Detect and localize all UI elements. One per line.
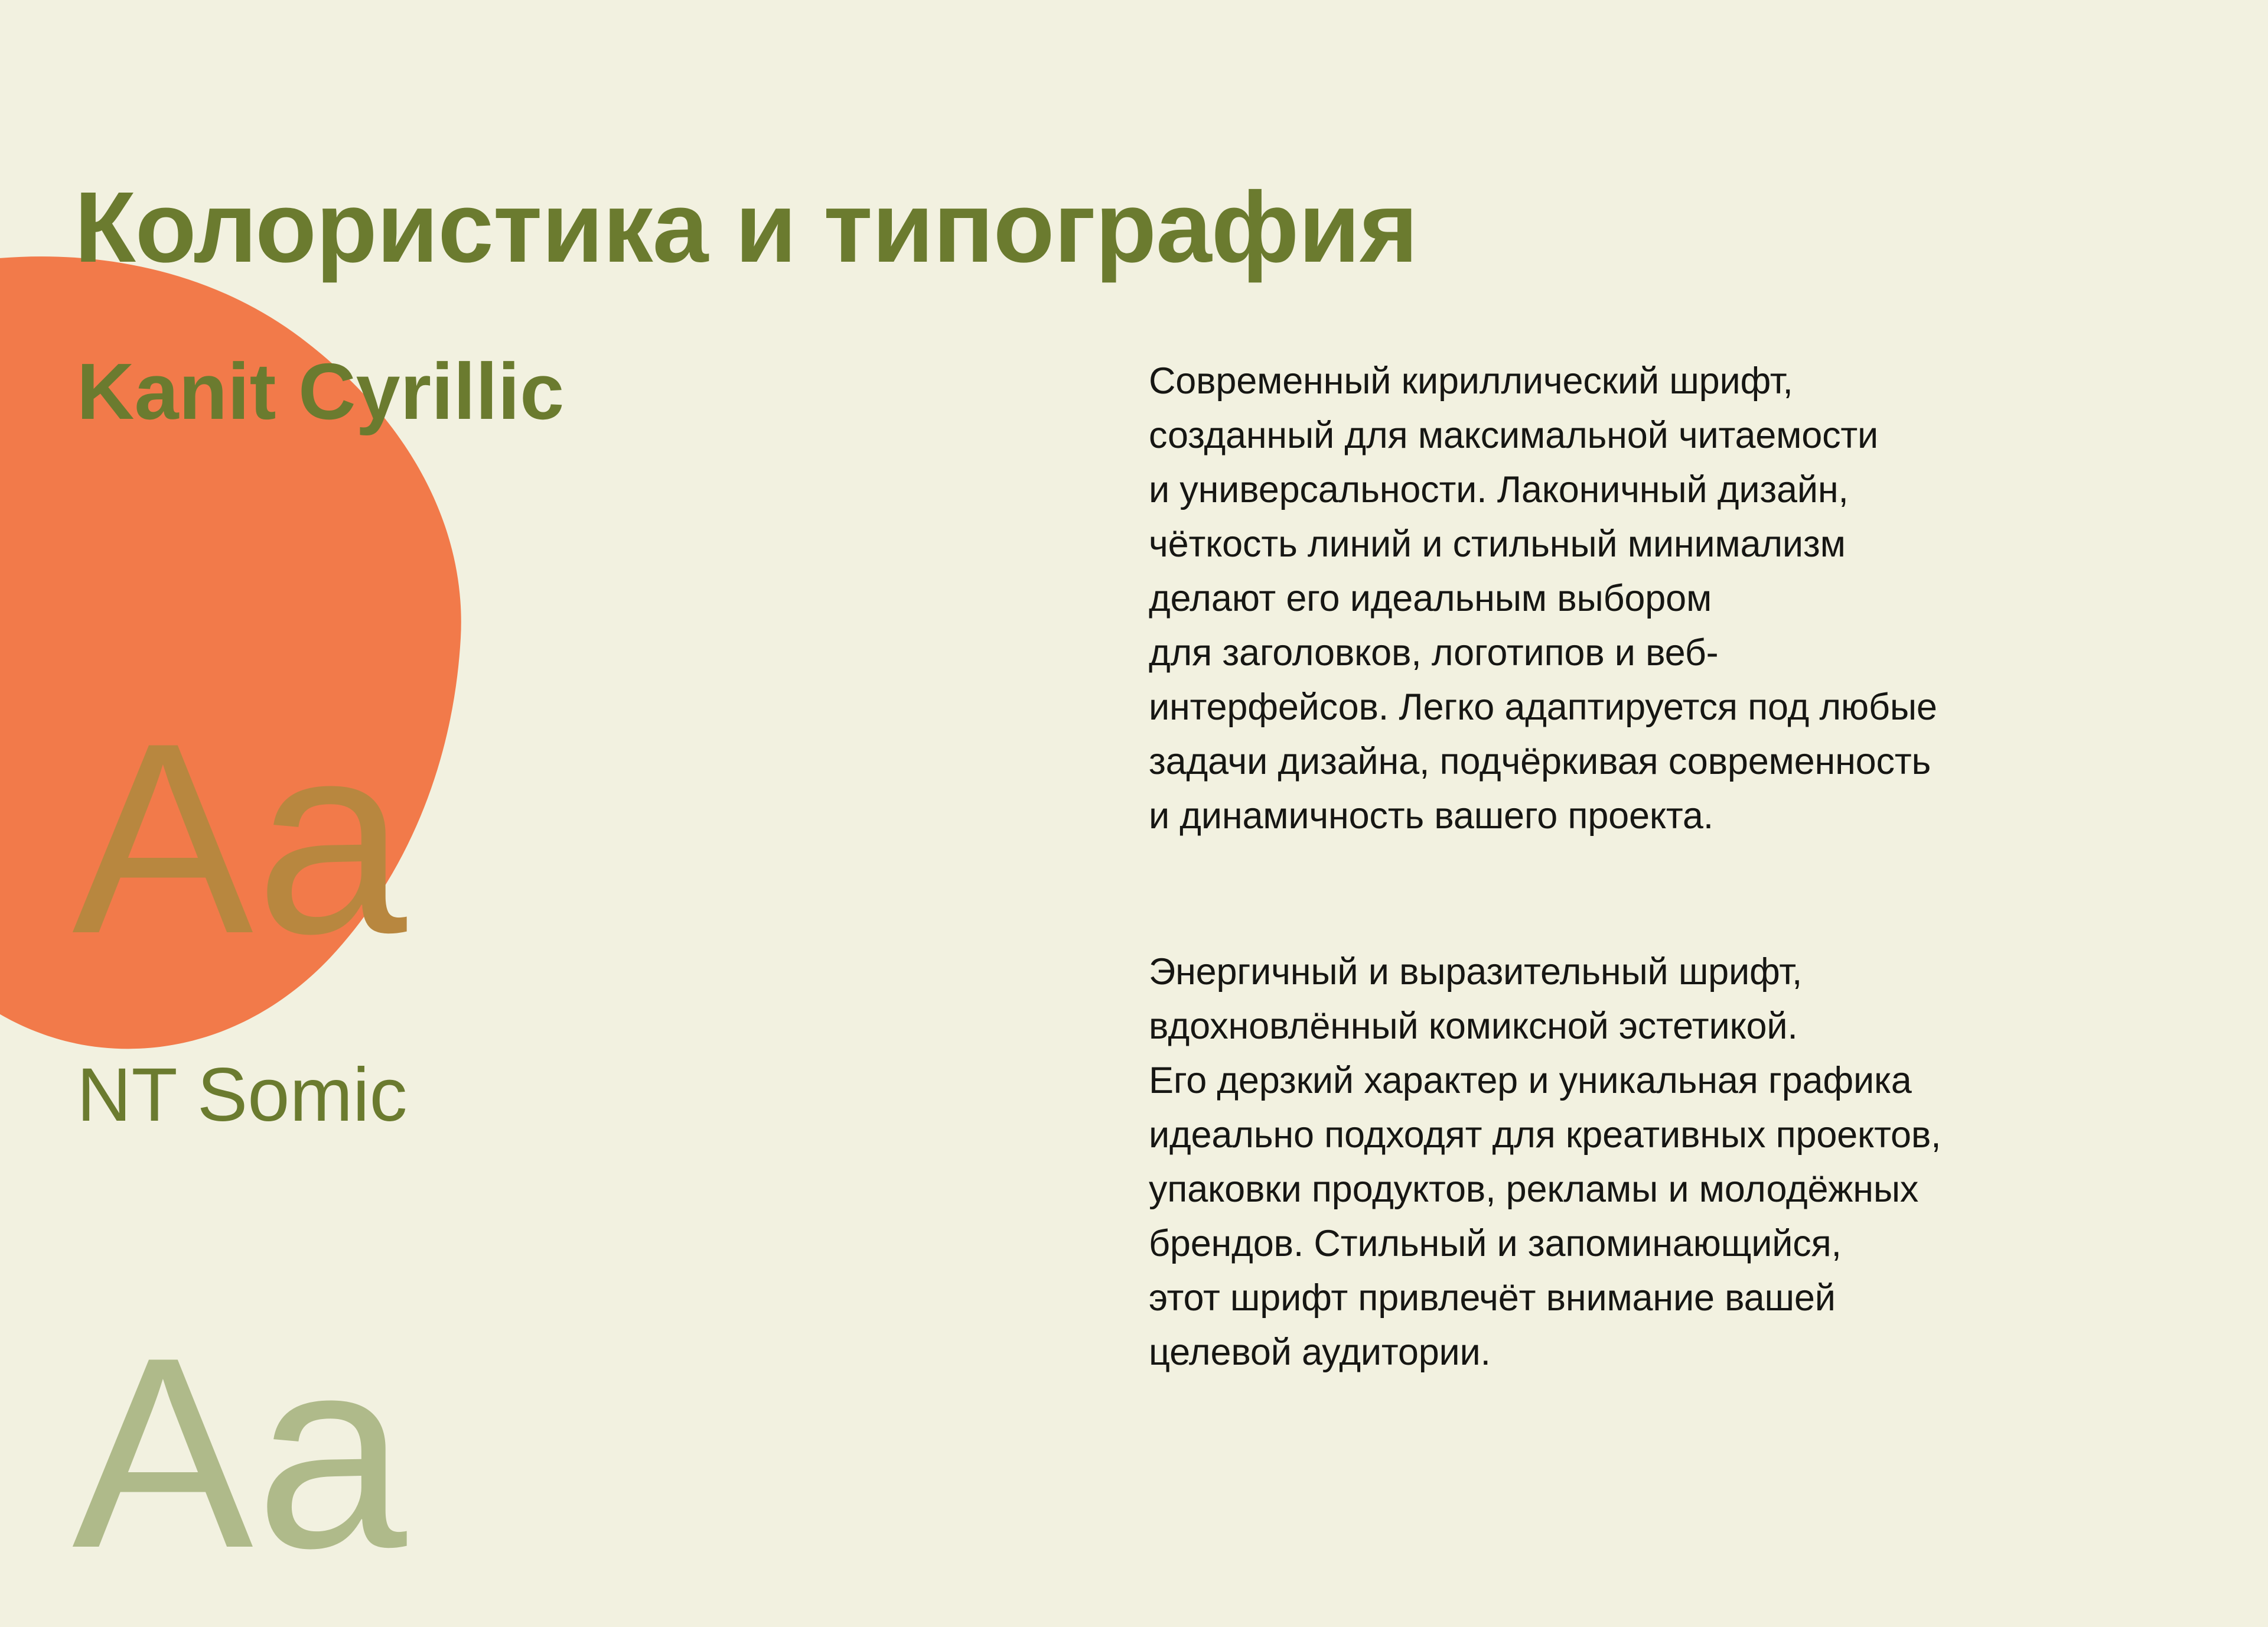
specimen-glyph-nt-somic: Aa [72,1317,409,1589]
slide-canvas: Колористика и типография Kanit Cyrillic … [0,0,2268,1627]
font-description-nt-somic: Энергичный и выразительный шрифт, вдохно… [1149,945,2194,1380]
font-name-nt-somic: NT Somic [77,1057,408,1133]
font-name-kanit-cyrillic: Kanit Cyrillic [77,352,564,431]
specimen-glyph-kanit-cyrillic: Aa [72,703,409,975]
font-description-column: Современный кириллический шрифт, созданн… [1149,354,2194,1379]
font-specimen-column: Kanit Cyrillic Aa NT Somic Aa [0,0,1063,1627]
font-description-kanit-cyrillic: Современный кириллический шрифт, созданн… [1149,354,2194,844]
